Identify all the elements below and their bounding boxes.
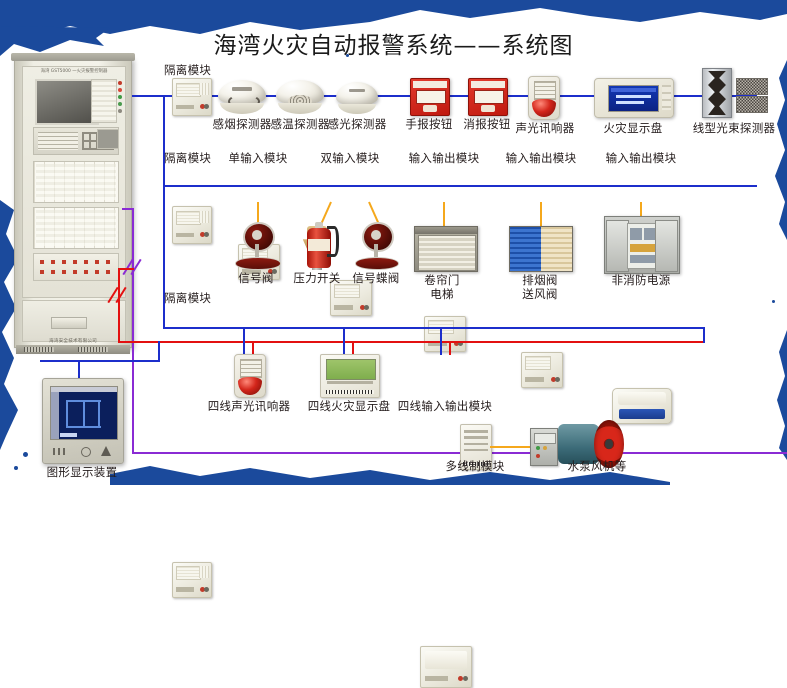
dual-input-module[interactable] <box>330 280 372 316</box>
beam-detector-label: 线型光束探测器 <box>693 122 776 135</box>
module-label-tag <box>334 305 352 309</box>
four-wire-display-buttons-icon[interactable] <box>327 381 373 384</box>
relay-led <box>84 270 88 274</box>
signal-valve-handwheel-icon <box>235 257 280 270</box>
panel-led-silence <box>118 109 122 113</box>
module-label-tag <box>176 233 193 237</box>
heat-detector-base-icon <box>278 103 322 114</box>
graphic-display-dial-icon[interactable] <box>81 447 91 457</box>
sounder-strobe-label: 声光讯响器 <box>516 122 575 135</box>
module-bars-icon <box>199 83 209 95</box>
power-cabinet-busbar-icon <box>630 244 655 252</box>
butterfly-valve[interactable] <box>350 222 402 270</box>
brush-dot-icon <box>14 466 18 470</box>
power-cabinet-breaker-icon <box>644 228 655 240</box>
smoke-damper-supply-icon <box>541 227 572 271</box>
panel-led-run <box>118 102 122 106</box>
sounder-grille-icon <box>240 359 262 378</box>
fire-display-screen-line-2 <box>616 101 644 104</box>
four-wire-sounder[interactable] <box>234 354 266 398</box>
pressure-switch-label: 压力开关 <box>293 272 340 285</box>
manual-call-point-button-icon[interactable] <box>423 105 437 112</box>
dual-input-module-label: 双输入模块 <box>321 152 380 165</box>
graphic-display-plan-line-icon <box>66 426 101 428</box>
graphic-display-plan-line-icon <box>66 400 68 428</box>
relay-led <box>51 260 55 264</box>
multiline-module-row-icon <box>464 430 488 433</box>
cabinet-plinth <box>16 345 130 354</box>
relay-led <box>40 260 44 264</box>
graphic-display-titlebar-icon <box>51 387 117 392</box>
graphic-display-logo-icon <box>101 446 111 456</box>
isolation-module-loop2[interactable] <box>172 206 212 244</box>
module-led-secondary-icon <box>463 676 468 681</box>
roller-shutter-label-line2: 电梯 <box>430 288 454 301</box>
cabinet-lower-door <box>22 300 126 342</box>
hose-reel-button-header-icon <box>471 81 504 87</box>
system-diagram-canvas: 海湾火灾自动报警系统——系统图 海湾 GST5000 一火灾报警控制器 <box>0 0 787 485</box>
graphic-display-plan-line-icon <box>66 400 101 402</box>
butterfly-valve-label: 信号蝶阀 <box>352 272 399 285</box>
module-bars-icon <box>199 211 209 223</box>
fire-display-screen-header <box>611 88 655 92</box>
four-wire-io-label: 四线输入输出模块 <box>398 400 492 413</box>
panel-relay-row-1 <box>33 253 119 281</box>
cabinet-brand-text: 海湾安全技术有限公司 <box>14 338 132 344</box>
hose-reel-button[interactable] <box>468 78 508 116</box>
module-face-icon <box>618 392 667 404</box>
module-bars-icon <box>199 566 209 578</box>
module-led-secondary-icon <box>204 232 209 237</box>
hose-reel-button-label: 消报按钮 <box>463 118 510 131</box>
beam-detector[interactable] <box>702 68 732 118</box>
multiline-module-row-icon <box>464 443 488 446</box>
module-vent-icon <box>176 211 201 225</box>
panel-led-power <box>118 95 122 99</box>
manual-call-point-header-icon <box>413 81 446 87</box>
strobe-lens-icon <box>532 99 556 117</box>
butterfly-valve-handle-icon <box>355 257 399 270</box>
module-label-tag <box>176 587 193 591</box>
smoke-damper-label-line1: 排烟阀 <box>522 274 557 287</box>
graphic-display-buttons[interactable] <box>53 445 114 458</box>
pump-control-led-fault-icon <box>543 446 547 450</box>
graphic-display-slider-icon[interactable] <box>53 448 67 455</box>
smoke-detector-label-icon <box>232 87 251 90</box>
fire-display-screen <box>608 85 658 112</box>
cabinet-face: 海湾 GST5000 一火灾报警控制器 <box>22 66 126 298</box>
sounder-grille-icon <box>534 81 556 100</box>
module-vent-icon <box>176 83 201 97</box>
beam-detector-lens-icon <box>708 71 726 115</box>
brush-dot-icon <box>23 452 28 457</box>
four-wire-fire-display[interactable] <box>320 354 380 398</box>
module-vent-icon <box>428 320 454 334</box>
hose-reel-button-window-icon <box>474 90 505 104</box>
smoke-damper-exhaust-icon <box>510 227 541 271</box>
roller-shutter-door[interactable] <box>414 226 478 272</box>
module-led-secondary-icon <box>458 341 463 346</box>
flame-detector-label-icon <box>349 89 366 92</box>
roller-shutter-slats-icon <box>418 235 476 271</box>
module-face-icon <box>425 651 467 669</box>
panel-keypad-grid-icon <box>38 132 78 150</box>
module-label-tag <box>176 105 193 109</box>
io-module-1-output-wire <box>443 202 445 226</box>
extinguisher-hose-icon <box>327 226 338 257</box>
cabinet-printer-slot <box>51 317 87 329</box>
loop2-bus-wire <box>163 185 757 187</box>
four-wire-display-lcd <box>326 359 377 379</box>
strobe-lens-icon <box>238 377 262 395</box>
graphic-display-plan-line-icon <box>83 400 85 428</box>
manual-call-point-label: 手报按钮 <box>405 118 452 131</box>
multiline-module-label: 多线制模块 <box>446 460 505 473</box>
relay-led <box>40 270 44 274</box>
power-cabinet-right-door-icon <box>655 220 678 271</box>
relay-led <box>84 260 88 264</box>
hose-reel-button-press-icon[interactable] <box>481 105 495 112</box>
smoke-detector-base-icon <box>220 103 264 114</box>
brush-stroke-right-lower-icon <box>775 330 787 460</box>
signal-valve[interactable] <box>230 222 284 270</box>
pump-control-display-icon <box>534 433 556 444</box>
panel-led-alarm <box>118 81 122 85</box>
fan-hub-icon <box>605 439 613 449</box>
four-wire-sounder-signal-drop <box>243 327 245 355</box>
multiline-riser-wire <box>132 208 134 454</box>
pump-and-fan-label: 水泵风机等 <box>568 460 627 473</box>
panel-zone-card-row-1 <box>33 161 119 203</box>
io-module-2-label: 输入输出模块 <box>506 152 577 165</box>
multiline-module-row-icon <box>464 436 488 439</box>
relay-led <box>106 260 110 264</box>
roller-shutter-head-icon <box>415 227 477 234</box>
loop3-bus-end-signal <box>703 327 705 343</box>
panel-led-fault <box>118 88 122 92</box>
single-input-module-label: 单输入模块 <box>229 152 288 165</box>
flame-detector-label: 感光探测器 <box>328 118 387 131</box>
graphic-display-sidebar-icon <box>51 392 59 439</box>
four-wire-display-label-icon <box>326 390 375 394</box>
manual-call-point[interactable] <box>410 78 450 116</box>
fire-display-panel[interactable] <box>594 78 674 118</box>
heat-detector[interactable] <box>276 80 324 114</box>
graphic-display-label: 图形显示装置 <box>47 466 118 479</box>
four-wire-sounder-power-drop <box>252 341 254 355</box>
graphic-display-screen <box>50 386 118 440</box>
loop1-to-loop2-riser <box>163 95 165 185</box>
isolation-module-loop1[interactable] <box>172 78 212 116</box>
relay-led <box>51 270 55 274</box>
graphic-display-status-icon <box>60 433 77 437</box>
io-module-3[interactable] <box>612 388 672 424</box>
pump-control-led-run-icon <box>536 446 540 450</box>
four-wire-sounder-label: 四线声光讯响器 <box>208 400 291 413</box>
flame-detector-base-icon <box>338 104 377 114</box>
roller-shutter-label-line1: 卷帘门 <box>424 274 459 287</box>
four-wire-display-label: 四线火灾显示盘 <box>308 400 391 413</box>
four-wire-io-module[interactable] <box>420 646 472 688</box>
panel-model-text: 海湾 GST5000 一火灾报警控制器 <box>23 68 125 74</box>
flame-detector-dome-icon <box>336 82 378 106</box>
multiline-module-output-wire <box>490 446 530 448</box>
module-vent-icon <box>334 284 360 298</box>
io-module-2-output-wire <box>540 202 542 226</box>
butterfly-valve-stem-icon <box>374 244 378 258</box>
smoke-detector-label: 感烟探测器 <box>213 118 272 131</box>
loop2-to-loop3-riser <box>163 185 165 327</box>
fire-display-screen-line-1 <box>616 95 651 98</box>
power-cabinet-breaker-icon <box>630 228 642 240</box>
module-led-secondary-icon <box>204 104 209 109</box>
pump-control-led-stop-icon <box>536 454 540 458</box>
cabinet-vent-icon <box>78 347 108 352</box>
beam-detector-reflector-lower-icon <box>736 96 768 113</box>
relay-led <box>62 260 66 264</box>
fire-alarm-control-panel[interactable]: 海湾 GST5000 一火灾报警控制器 <box>14 58 132 348</box>
smoke-detector[interactable] <box>218 80 266 114</box>
loop2-isolator-label: 隔离模块 <box>164 152 211 165</box>
io-module-3-label: 输入输出模块 <box>606 152 677 165</box>
power-cabinet-left-door-icon <box>606 220 629 271</box>
graphic-display-plan-line-icon <box>98 400 100 428</box>
fire-display-panel-label: 火灾显示盘 <box>604 122 663 135</box>
relay-led <box>62 270 66 274</box>
panel-secondary-display <box>97 129 119 149</box>
module-led-secondary-icon <box>204 587 209 592</box>
cabinet-top-trim <box>11 53 135 61</box>
io-module-2[interactable] <box>521 352 563 388</box>
smoke-damper[interactable] <box>509 226 573 272</box>
pump-control-box[interactable] <box>530 428 558 466</box>
extinguisher-graphic <box>300 222 338 268</box>
graphic-display-device[interactable] <box>42 378 124 464</box>
heat-detector-label: 感温探测器 <box>271 118 330 131</box>
signal-valve-label: 信号阀 <box>238 272 273 285</box>
beam-detector-reflector-upper-icon <box>736 78 768 95</box>
loop3-isolator-label: 隔离模块 <box>164 292 211 305</box>
relay-led <box>73 270 77 274</box>
loop1-isolator-label: 隔离模块 <box>164 64 211 77</box>
fire-display-keypad[interactable] <box>662 85 671 110</box>
four-wire-display-signal-drop <box>343 327 345 355</box>
module-led-secondary-icon <box>364 305 369 310</box>
power-cabinet-terminal-icon <box>630 255 655 263</box>
graphic-display-link-wire <box>78 360 80 378</box>
sounder-strobe[interactable] <box>528 76 560 120</box>
signal-valve-stem-icon <box>255 244 259 258</box>
panel-indicator-strip <box>91 79 117 123</box>
relay-led <box>95 270 99 274</box>
brush-stroke-right-icon <box>773 60 787 240</box>
isolation-module-loop3[interactable] <box>172 562 212 598</box>
graphic-display-riser-wire <box>158 341 160 361</box>
io-module-1-label: 输入输出模块 <box>409 152 480 165</box>
non-fire-power-cabinet[interactable] <box>604 216 680 274</box>
four-wire-display-power-drop <box>352 341 354 355</box>
module-label-tag <box>425 676 448 681</box>
loop3-power-bus-wire <box>118 341 705 343</box>
module-vent-icon <box>525 356 551 370</box>
flame-detector[interactable] <box>336 82 378 114</box>
module-label-tag <box>428 341 446 345</box>
io-module-1[interactable] <box>424 316 466 352</box>
relay-led <box>95 260 99 264</box>
panel-screen <box>35 79 99 125</box>
brush-dot-icon <box>772 300 775 303</box>
relay-led <box>106 270 110 274</box>
module-vent-icon <box>176 566 201 580</box>
cabinet-vent-icon <box>24 347 54 352</box>
wire-break-mark-icon <box>130 259 141 275</box>
relay-led <box>73 260 77 264</box>
multiline-module-row-icon <box>464 449 488 452</box>
manual-call-point-window-icon <box>416 90 447 104</box>
non-fire-power-label: 非消防电源 <box>612 274 671 287</box>
panel-zone-card-row-2 <box>33 207 119 249</box>
module-blue-label-icon <box>619 409 665 419</box>
smoke-damper-label-line2: 送风阀 <box>522 288 557 301</box>
module-label-tag <box>525 377 543 381</box>
graphic-display-bus-wire <box>40 360 160 362</box>
module-led-secondary-icon <box>555 377 560 382</box>
